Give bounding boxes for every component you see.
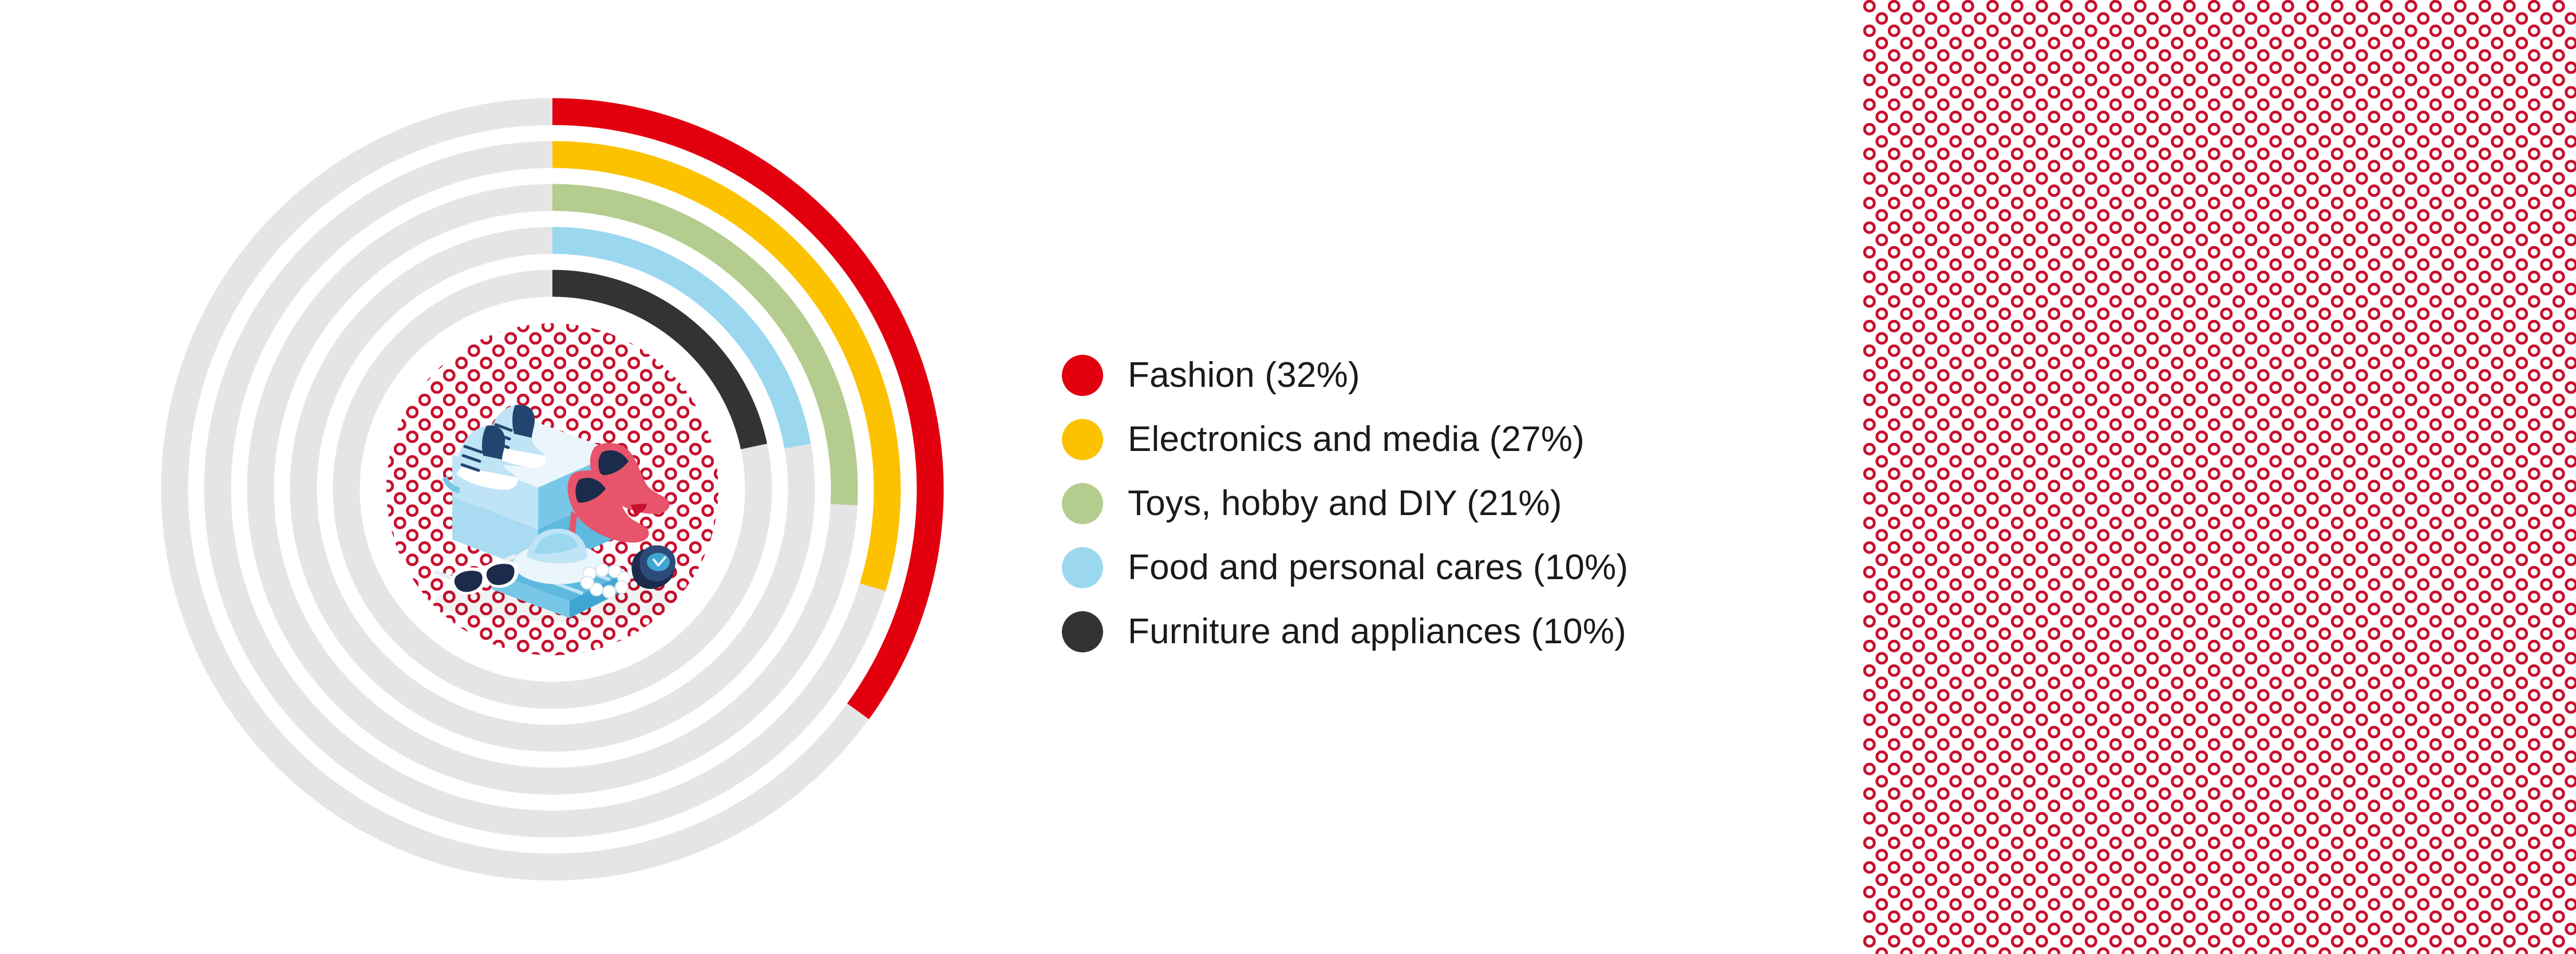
legend-label-furniture-and-appliances: Furniture and appliances (10%) [1128,614,1626,650]
legend-swatch-electronics-and-media [1062,419,1103,460]
legend-item[interactable]: Food and personal cares (10%) [1062,536,1749,600]
legend-item[interactable]: Furniture and appliances (10%) [1062,600,1749,664]
legend-item[interactable]: Fashion (32%) [1062,343,1749,407]
legend-swatch-furniture-and-appliances [1062,611,1103,652]
legend-label-toys-hobby-and-diy: Toys, hobby and DIY (21%) [1128,486,1562,521]
chart-legend: Fashion (32%) Electronics and media (27%… [1062,343,1749,664]
legend-label-food-and-personal-cares: Food and personal cares (10%) [1128,550,1628,585]
legend-label-fashion: Fashion (32%) [1128,358,1360,393]
legend-item[interactable]: Toys, hobby and DIY (21%) [1062,472,1749,536]
legend-swatch-food-and-personal-cares [1062,547,1103,588]
legend-swatch-toys-hobby-and-diy [1062,483,1103,524]
radial-ring-chart [0,0,973,954]
center-illustration [386,323,718,655]
legend-item[interactable]: Electronics and media (27%) [1062,407,1749,472]
legend-label-electronics-and-media: Electronics and media (27%) [1128,422,1585,457]
infographic-canvas: Fashion (32%) Electronics and media (27%… [0,0,2576,954]
decorative-dot-pattern [1863,0,2576,954]
legend-swatch-fashion [1062,355,1103,396]
